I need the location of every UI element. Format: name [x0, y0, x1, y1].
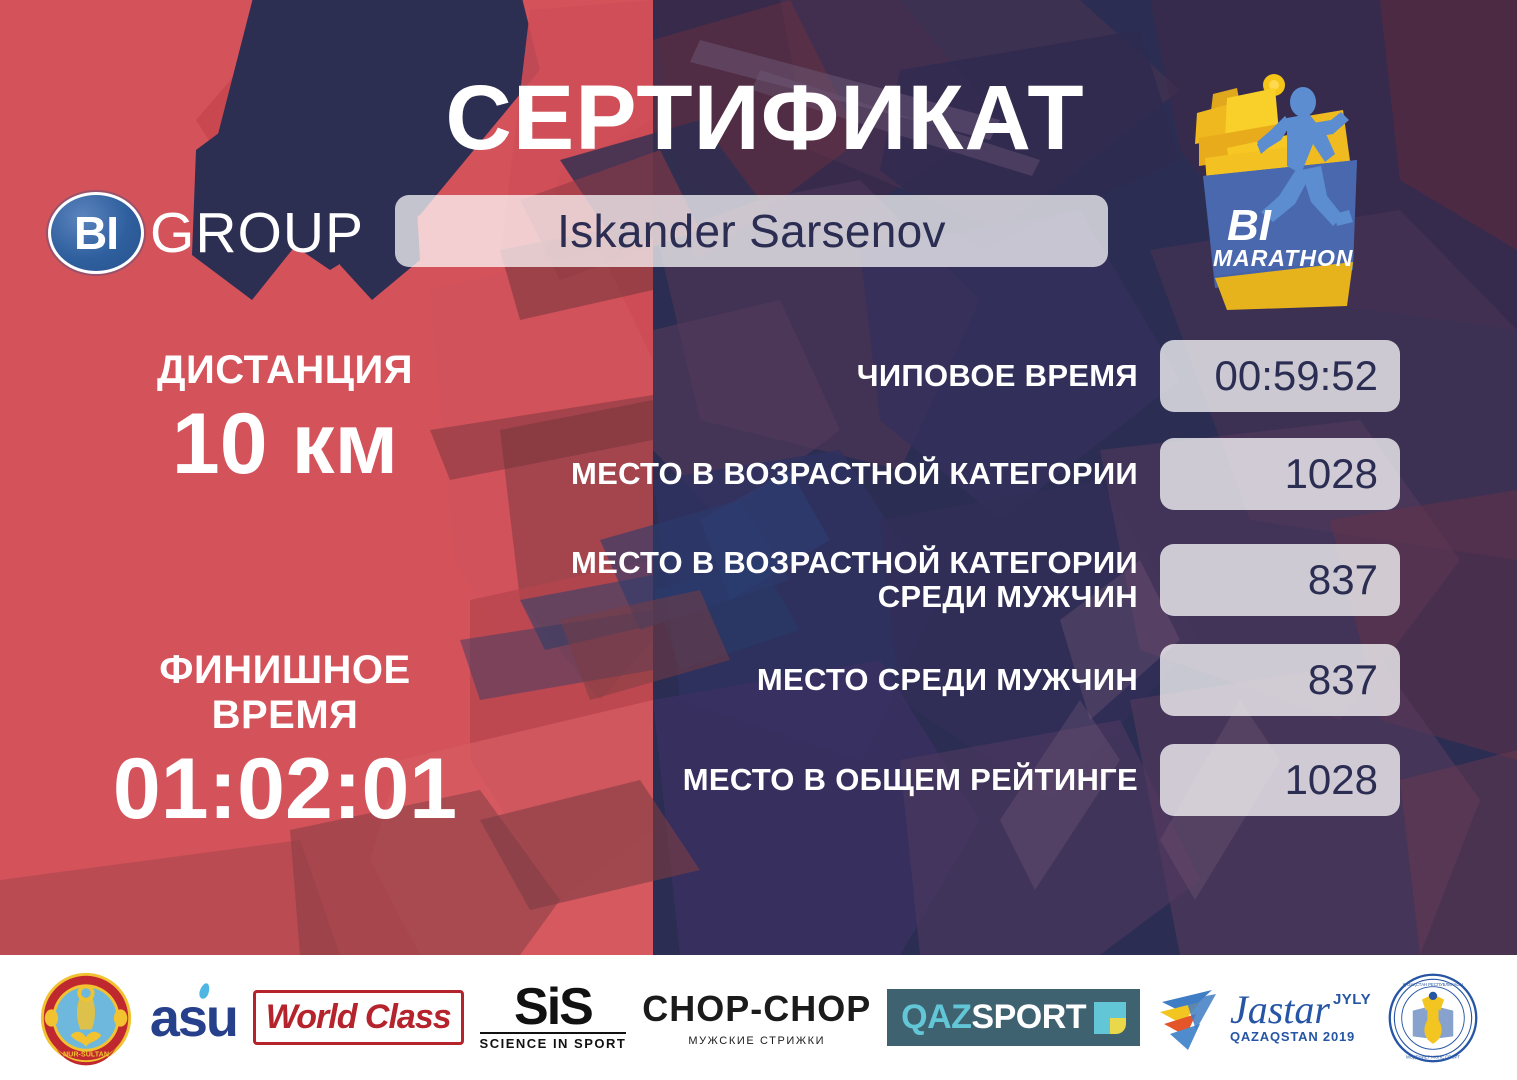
stat-row-chip-time: ЧИПОВОЕ ВРЕМЯ 00:59:52: [520, 340, 1400, 412]
stat-label: МЕСТО В ВОЗРАСТНОЙ КАТЕГОРИИ: [520, 457, 1160, 491]
qazsport-mark-icon: [1094, 1002, 1126, 1034]
stat-label: МЕСТО В ОБЩЕМ РЕЙТИНГЕ: [520, 763, 1160, 797]
bi-badge-icon: BI: [48, 192, 144, 274]
stat-row-men-place: МЕСТО СРЕДИ МУЖЧИН 837: [520, 644, 1400, 716]
sponsor-jastar-jyly: Jastar JYLY QAZAQSTAN 2019: [1156, 970, 1371, 1066]
nur-sultan-emblem-icon: NUR-SULTAN: [38, 970, 134, 1066]
sponsor-world-class: World Class: [253, 970, 464, 1066]
stat-value: 837: [1308, 556, 1400, 604]
bi-group-logo: BI GROUP: [48, 192, 364, 274]
stat-label: ЧИПОВОЕ ВРЕМЯ: [520, 359, 1160, 393]
stat-row-age-category-men-place: МЕСТО В ВОЗРАСТНОЙ КАТЕГОРИИ СРЕДИ МУЖЧИ…: [520, 544, 1400, 616]
jastar-text-group: Jastar JYLY QAZAQSTAN 2019: [1230, 991, 1371, 1044]
asu-logo: asu: [150, 987, 237, 1049]
nur-sultan-label: NUR-SULTAN: [63, 1049, 109, 1058]
stat-value-pill: 837: [1160, 644, 1400, 716]
sponsor-asu: asu: [150, 970, 237, 1066]
jastar-jyly-logo: Jastar JYLY QAZAQSTAN 2019: [1156, 980, 1371, 1056]
participant-name-value: Iskander Sarsenov: [557, 204, 946, 258]
stat-value-pill: 1028: [1160, 438, 1400, 510]
sis-logo: SiS SCIENCE IN SPORT: [480, 984, 627, 1052]
ministry-seal-top-text: ҚАЗАҚСТАН РЕСПУБЛИКАСЫ: [1403, 981, 1464, 986]
marathon-logo-line1: BI: [1227, 201, 1272, 250]
bi-marathon-logo: BI MARATHON: [1175, 58, 1390, 313]
jastar-arrow-icon: [1156, 980, 1226, 1056]
distance-value: 10 км: [85, 397, 485, 492]
bi-badge-label: BI: [74, 206, 118, 260]
marathon-logo-line2: MARATHON: [1213, 245, 1353, 271]
qazsport-label-a: QAZ: [901, 998, 971, 1037]
chop-chop-sublabel: МУЖСКИЕ СТРИЖКИ: [642, 1035, 871, 1047]
sponsor-bar: NUR-SULTAN asu World Class SiS SCIENCE I…: [0, 955, 1517, 1080]
stat-label: МЕСТО СРЕДИ МУЖЧИН: [520, 663, 1160, 697]
stat-value-pill: 00:59:52: [1160, 340, 1400, 412]
sponsor-qazsport: QAZ SPORT: [887, 970, 1140, 1066]
certificate: BI GROUP СЕРТИФИКАТ Iskander Sarsenov: [0, 0, 1517, 1080]
stat-value-pill: 1028: [1160, 744, 1400, 816]
chop-chop-label: CHOP-CHOP: [642, 988, 871, 1030]
finish-time-block: ФИНИШНОЕ ВРЕМЯ 01:02:01: [85, 648, 485, 836]
ministry-seal-bottom-text: МӘДЕНИЕТ ЖӘНЕ СПОРТ: [1406, 1054, 1460, 1059]
stat-row-age-category-place: МЕСТО В ВОЗРАСТНОЙ КАТЕГОРИИ 1028: [520, 438, 1400, 510]
chop-chop-logo: CHOP-CHOP МУЖСКИЕ СТРИЖКИ: [642, 988, 871, 1047]
qazsport-label-b: SPORT: [971, 998, 1086, 1037]
stat-value: 1028: [1285, 450, 1400, 498]
finish-time-value: 01:02:01: [85, 742, 485, 837]
bi-group-word: GROUP: [150, 200, 364, 266]
stat-value: 00:59:52: [1215, 352, 1401, 400]
stat-row-overall-place: МЕСТО В ОБЩЕМ РЕЙТИНГЕ 1028: [520, 744, 1400, 816]
participant-name-field: Iskander Sarsenov: [395, 195, 1108, 267]
stat-label: МЕСТО В ВОЗРАСТНОЙ КАТЕГОРИИ СРЕДИ МУЖЧИ…: [520, 546, 1160, 614]
world-class-logo: World Class: [253, 990, 464, 1045]
jastar-sublabel: QAZAQSTAN 2019: [1230, 1029, 1371, 1044]
jastar-badge-label: JYLY: [1333, 991, 1371, 1008]
sponsor-ministry: ҚАЗАҚСТАН РЕСПУБЛИКАСЫ МӘДЕНИЕТ ЖӘНЕ СПО…: [1387, 970, 1479, 1066]
jastar-label: Jastar: [1230, 991, 1330, 1029]
asu-label: asu: [150, 988, 237, 1048]
finish-time-label: ФИНИШНОЕ ВРЕМЯ: [85, 648, 485, 738]
ministry-seal-icon: ҚАЗАҚСТАН РЕСПУБЛИКАСЫ МӘДЕНИЕТ ЖӘНЕ СПО…: [1387, 972, 1479, 1064]
sponsor-nur-sultan: NUR-SULTAN: [38, 970, 134, 1066]
stats-list: ЧИПОВОЕ ВРЕМЯ 00:59:52 МЕСТО В ВОЗРАСТНО…: [520, 340, 1400, 832]
sponsor-chop-chop: CHOP-CHOP МУЖСКИЕ СТРИЖКИ: [642, 970, 871, 1066]
stat-value: 1028: [1285, 756, 1400, 804]
stat-value-pill: 837: [1160, 544, 1400, 616]
sponsor-sis: SiS SCIENCE IN SPORT: [480, 970, 627, 1066]
stat-value: 837: [1308, 656, 1400, 704]
page-title: СЕРТИФИКАТ: [395, 72, 1135, 166]
distance-block: ДИСТАНЦИЯ 10 км: [85, 348, 485, 491]
distance-label: ДИСТАНЦИЯ: [85, 348, 485, 393]
sis-label: SiS: [480, 984, 627, 1031]
qazsport-logo: QAZ SPORT: [887, 989, 1140, 1046]
